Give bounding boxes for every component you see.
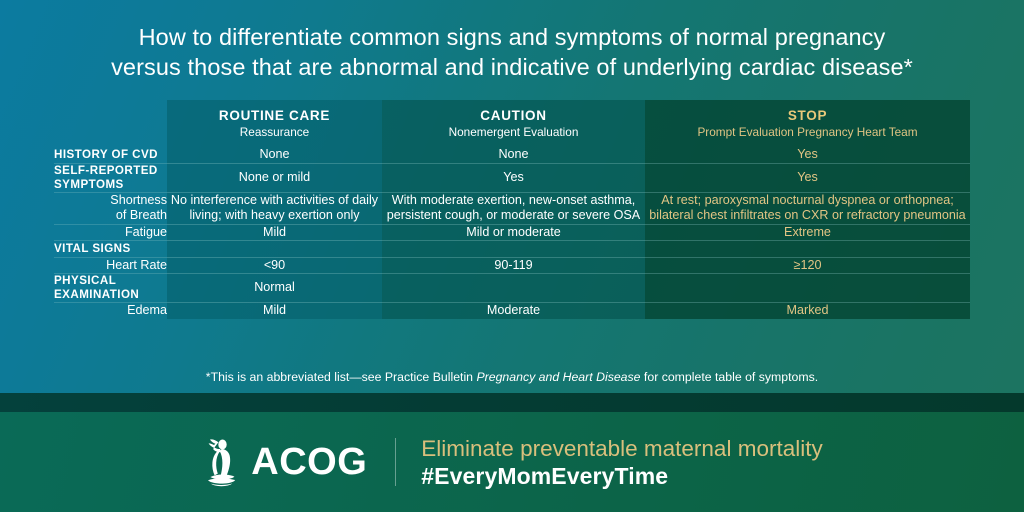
title-line-2: versus those that are abnormal and indic…	[48, 52, 976, 82]
cell-selfreported-stop: Yes	[645, 163, 970, 192]
table-row: HISTORY OF CVD None None Yes	[54, 147, 970, 163]
acog-wordmark: ACOG	[251, 443, 367, 481]
page-title: How to differentiate common signs and sy…	[0, 22, 1024, 82]
row-label-line-1: Shortness	[110, 193, 167, 207]
cell-heartrate-stop: ≥120	[645, 257, 970, 274]
cell-edema-routine: Mild	[167, 303, 382, 319]
table-row: Heart Rate <90 90-119 ≥120	[54, 257, 970, 274]
footnote-italic-title: Pregnancy and Heart Disease	[476, 370, 640, 384]
header-cell-routine-care: ROUTINE CARE Reassurance	[167, 100, 382, 147]
row-label-edema: Edema	[54, 303, 167, 319]
cell-history-caution: None	[382, 147, 645, 163]
title-line-1: How to differentiate common signs and sy…	[48, 22, 976, 52]
row-label-line-2: of Breath	[116, 208, 167, 222]
row-label-vital-signs: VITAL SIGNS	[54, 241, 167, 258]
cell-heartrate-caution: 90-119	[382, 257, 645, 274]
header-cell-stop: STOP Prompt Evaluation Pregnancy Heart T…	[645, 100, 970, 147]
cell-fatigue-routine: Mild	[167, 224, 382, 241]
header-subtitle-caution: Nonemergent Evaluation	[382, 125, 645, 140]
row-label-shortness-of-breath: Shortness of Breath	[54, 192, 167, 224]
comparison-table-wrapper: ROUTINE CARE Reassurance CAUTION Nonemer…	[54, 100, 970, 319]
footnote: *This is an abbreviated list—see Practic…	[0, 369, 1024, 385]
header-cell-blank	[54, 100, 167, 147]
infographic-page: How to differentiate common signs and sy…	[0, 0, 1024, 512]
cell-history-routine: None	[167, 147, 382, 163]
header-title-routine: ROUTINE CARE	[167, 108, 382, 124]
table-header: ROUTINE CARE Reassurance CAUTION Nonemer…	[54, 100, 970, 147]
table-row: Shortness of Breath No interference with…	[54, 192, 970, 224]
footnote-prefix: *This is an abbreviated list—see Practic…	[206, 370, 477, 384]
tagline-group: Eliminate preventable maternal mortality…	[421, 435, 822, 490]
header-title-caution: CAUTION	[382, 108, 645, 124]
brand-divider	[395, 438, 396, 486]
divider-band	[0, 393, 1024, 412]
cell-edema-caution: Moderate	[382, 303, 645, 319]
row-label-line-2: EXAMINATION	[54, 288, 139, 301]
row-label-history-of-cvd: HISTORY OF CVD	[54, 147, 167, 163]
cell-vitalsigns-caution	[382, 241, 645, 258]
table-row: PHYSICAL EXAMINATION Normal	[54, 274, 970, 303]
table-row: VITAL SIGNS	[54, 241, 970, 258]
cell-edema-stop: Marked	[645, 303, 970, 319]
cell-sob-caution: With moderate exertion, new-onset asthma…	[382, 192, 645, 224]
table-row: SELF-REPORTED SYMPTOMS None or mild Yes …	[54, 163, 970, 192]
cell-sob-stop: At rest; paroxysmal nocturnal dyspnea or…	[645, 192, 970, 224]
table-row: Edema Mild Moderate Marked	[54, 303, 970, 319]
cell-vitalsigns-stop	[645, 241, 970, 258]
cell-heartrate-routine: <90	[167, 257, 382, 274]
cell-fatigue-stop: Extreme	[645, 224, 970, 241]
cell-selfreported-routine: None or mild	[167, 163, 382, 192]
acog-brand-lockup: ACOG	[201, 436, 367, 488]
table-header-row: ROUTINE CARE Reassurance CAUTION Nonemer…	[54, 100, 970, 147]
cell-history-stop: Yes	[645, 147, 970, 163]
table-row: Fatigue Mild Mild or moderate Extreme	[54, 224, 970, 241]
cell-physexam-stop	[645, 274, 970, 303]
cell-physexam-routine: Normal	[167, 274, 382, 303]
header-cell-caution: CAUTION Nonemergent Evaluation	[382, 100, 645, 147]
row-label-fatigue: Fatigue	[54, 224, 167, 241]
row-label-physical-examination: PHYSICAL EXAMINATION	[54, 274, 167, 303]
cell-sob-routine: No interference with activities of daily…	[167, 192, 382, 224]
tagline-hashtag: #EveryMomEveryTime	[421, 462, 822, 490]
cell-fatigue-caution: Mild or moderate	[382, 224, 645, 241]
footnote-suffix: for complete table of symptoms.	[641, 370, 819, 384]
row-label-line-1: SELF-REPORTED	[54, 164, 158, 177]
row-label-line-1: PHYSICAL	[54, 274, 116, 287]
cell-selfreported-caution: Yes	[382, 163, 645, 192]
row-label-line-2: SYMPTOMS	[54, 178, 124, 191]
header-subtitle-routine: Reassurance	[167, 125, 382, 140]
comparison-table: ROUTINE CARE Reassurance CAUTION Nonemer…	[54, 100, 970, 319]
acog-seated-figure-icon	[201, 436, 241, 488]
cell-vitalsigns-routine	[167, 241, 382, 258]
header-subtitle-stop: Prompt Evaluation Pregnancy Heart Team	[645, 125, 970, 140]
row-label-self-reported-symptoms: SELF-REPORTED SYMPTOMS	[54, 163, 167, 192]
footer-bar: ACOG Eliminate preventable maternal mort…	[0, 412, 1024, 512]
header-title-stop: STOP	[645, 108, 970, 124]
cell-physexam-caution	[382, 274, 645, 303]
row-label-heart-rate: Heart Rate	[54, 257, 167, 274]
tagline-primary: Eliminate preventable maternal mortality	[421, 435, 822, 462]
table-body: HISTORY OF CVD None None Yes SELF-REPORT…	[54, 147, 970, 319]
